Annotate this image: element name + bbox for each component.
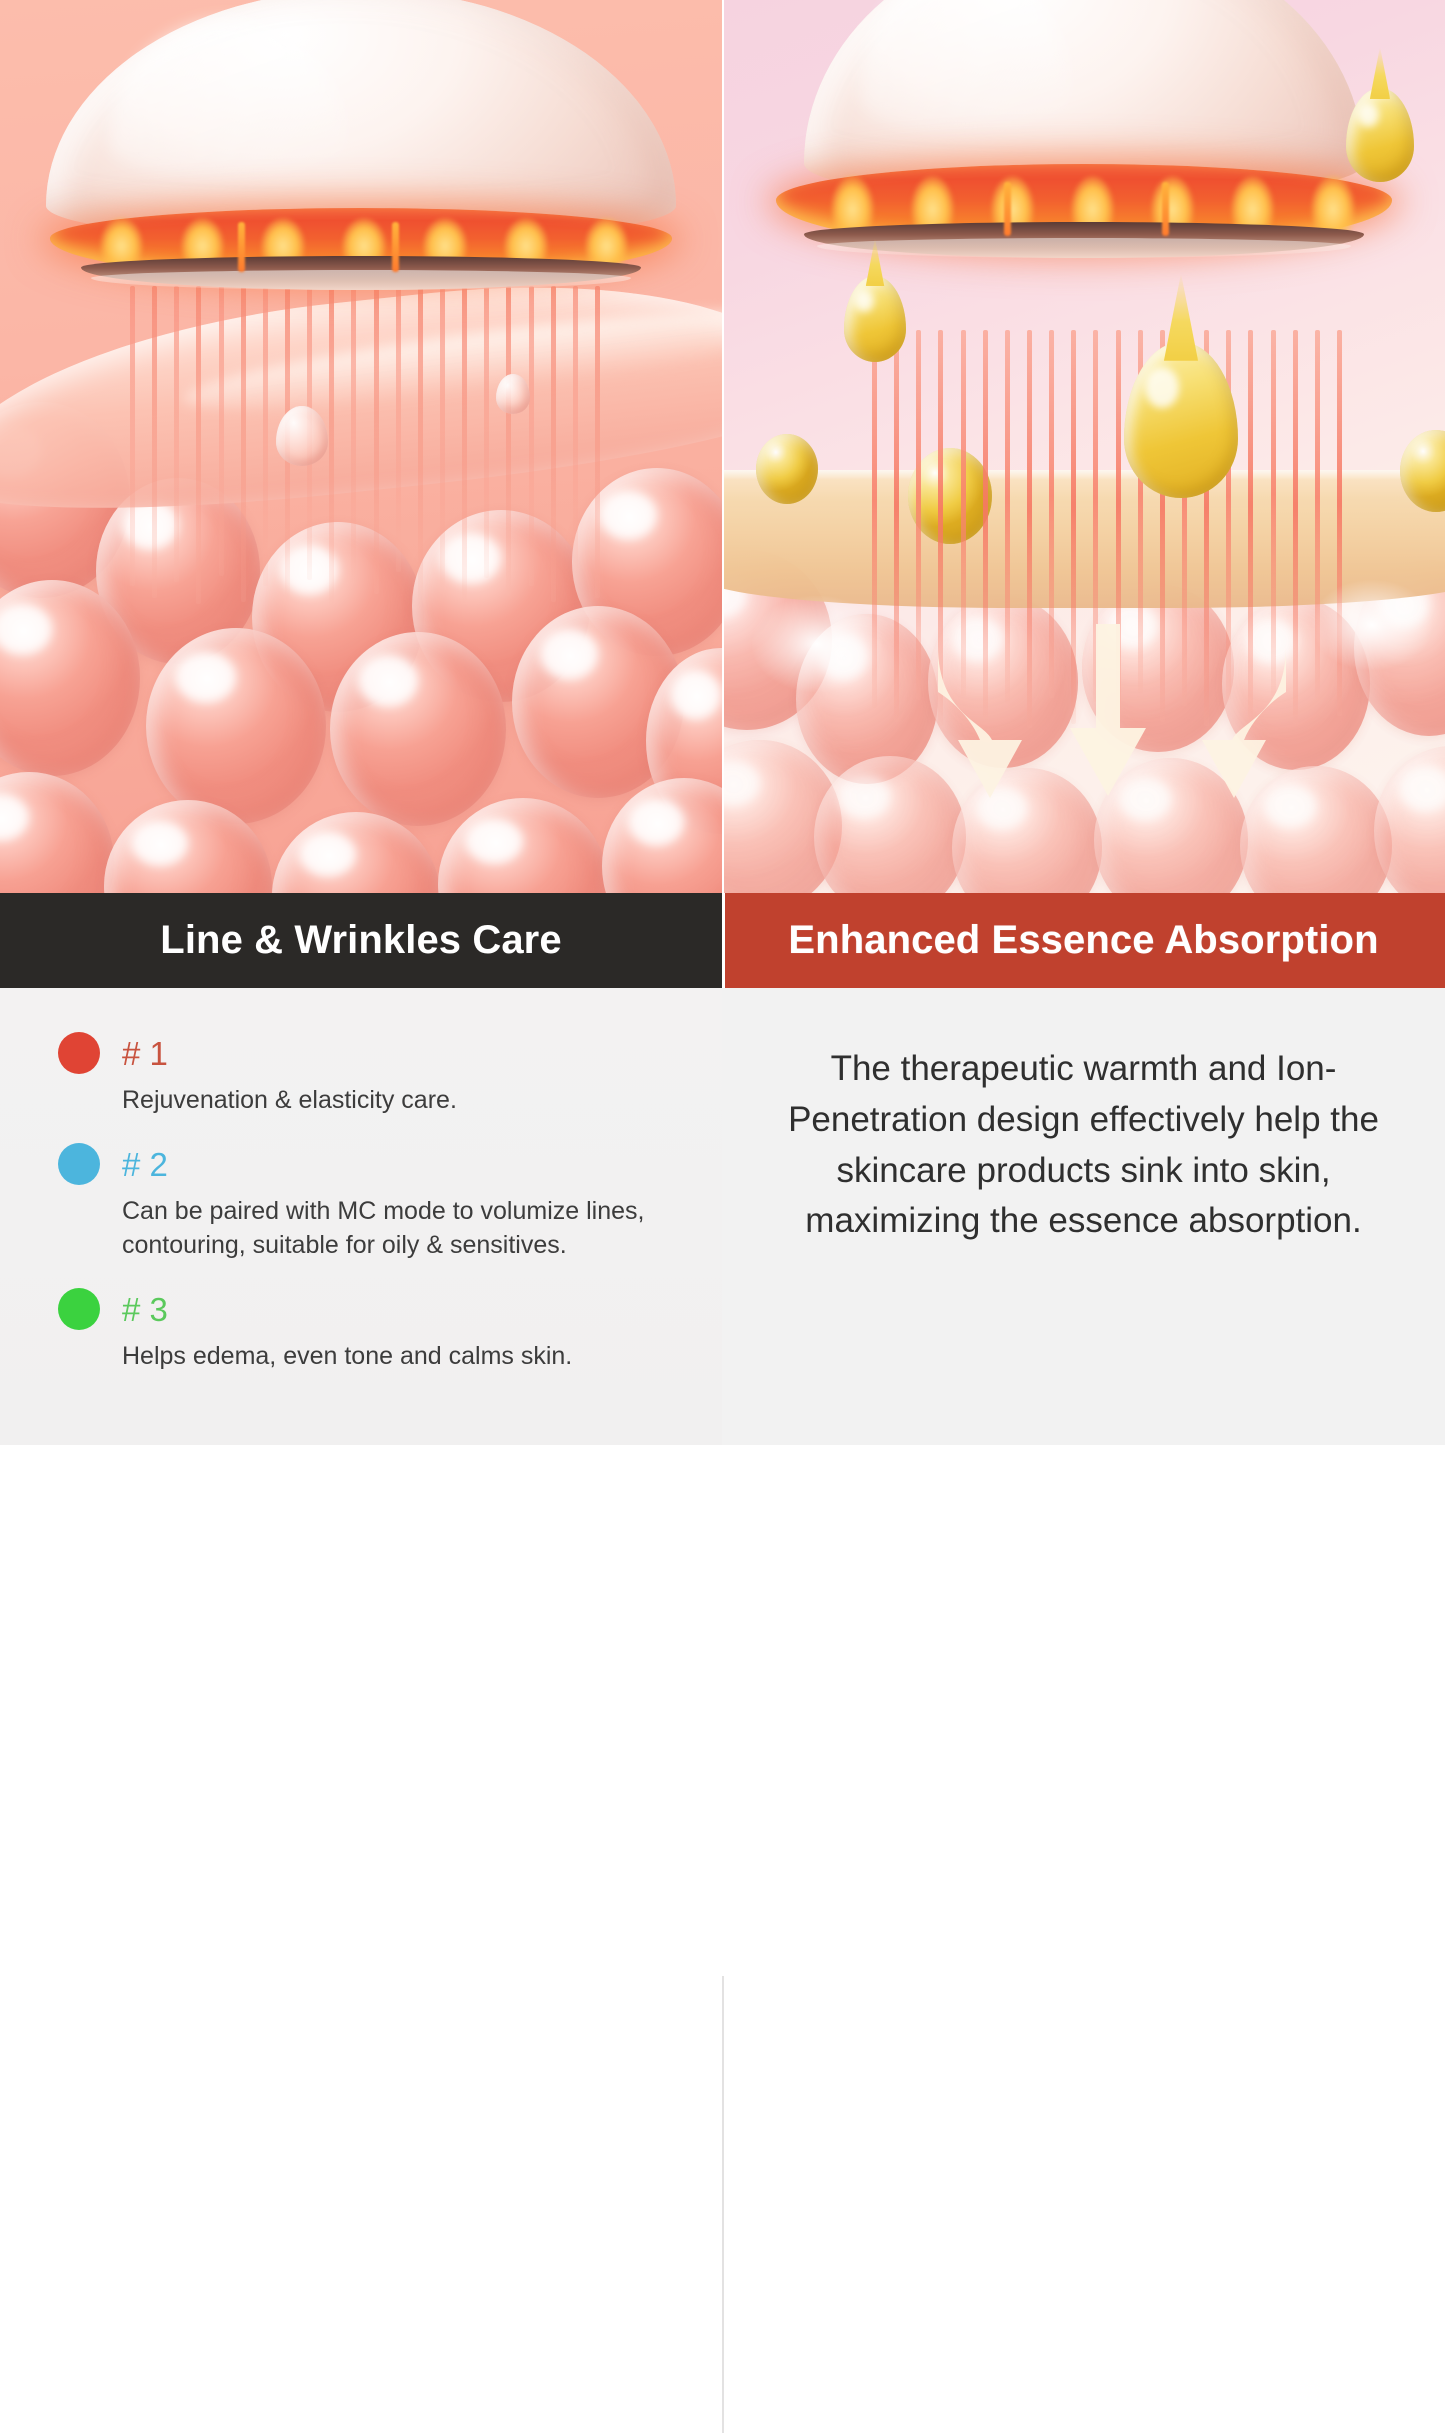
feature-description: Can be paired with MC mode to volumize l… [122, 1194, 682, 1262]
light-ray-icon [130, 286, 600, 606]
water-droplet-icon [496, 374, 530, 414]
serum-droplet-icon [844, 276, 906, 362]
sparkle-icon [752, 596, 882, 692]
led-beauty-device-icon [0, 0, 722, 310]
banner-divider [722, 893, 725, 988]
left-banner: Line & Wrinkles Care [0, 893, 722, 988]
right-banner: Enhanced Essence Absorption [722, 893, 1445, 988]
left-banner-title: Line & Wrinkles Care [160, 918, 561, 963]
feature-rank: # 1 [122, 1037, 168, 1070]
feature-list: # 1 Rejuvenation & elasticity care. # 2 … [0, 988, 722, 1445]
bullet-dot-icon [58, 1143, 100, 1185]
product-feature-graphic: Line & Wrinkles Care Enhanced Essence Ab… [0, 0, 1445, 1445]
feature-header: # 1 [58, 1032, 682, 1074]
list-item: # 1 Rejuvenation & elasticity care. [58, 1032, 682, 1117]
left-hero-illustration [0, 0, 722, 893]
right-hero-illustration [722, 0, 1445, 893]
panel-divider [722, 0, 724, 893]
feature-header: # 3 [58, 1288, 682, 1330]
description-paragraph: The therapeutic warmth and Ion-Penetrati… [768, 1044, 1399, 1247]
feature-description: Rejuvenation & elasticity care. [122, 1083, 682, 1117]
feature-description: Helps edema, even tone and calms skin. [122, 1339, 682, 1373]
down-arrow-icon [1164, 636, 1294, 806]
hero-image-row [0, 0, 1445, 893]
sparkle-icon [1312, 580, 1432, 670]
bullet-dot-icon [58, 1032, 100, 1074]
content-divider [722, 1976, 724, 2433]
down-arrow-icon [1058, 620, 1158, 810]
description-column: The therapeutic warmth and Ion-Penetrati… [722, 988, 1445, 1445]
feature-rank: # 2 [122, 1148, 168, 1181]
serum-droplet-icon [756, 434, 818, 504]
feature-rank: # 3 [122, 1293, 168, 1326]
bullet-dot-icon [58, 1288, 100, 1330]
right-banner-title: Enhanced Essence Absorption [788, 918, 1378, 963]
list-item: # 2 Can be paired with MC mode to volumi… [58, 1143, 682, 1262]
down-arrow-icon [930, 636, 1060, 806]
feature-header: # 2 [58, 1143, 682, 1185]
led-beauty-device-icon [722, 0, 1445, 274]
list-item: # 3 Helps edema, even tone and calms ski… [58, 1288, 682, 1373]
content-row: # 1 Rejuvenation & elasticity care. # 2 … [0, 988, 1445, 1445]
